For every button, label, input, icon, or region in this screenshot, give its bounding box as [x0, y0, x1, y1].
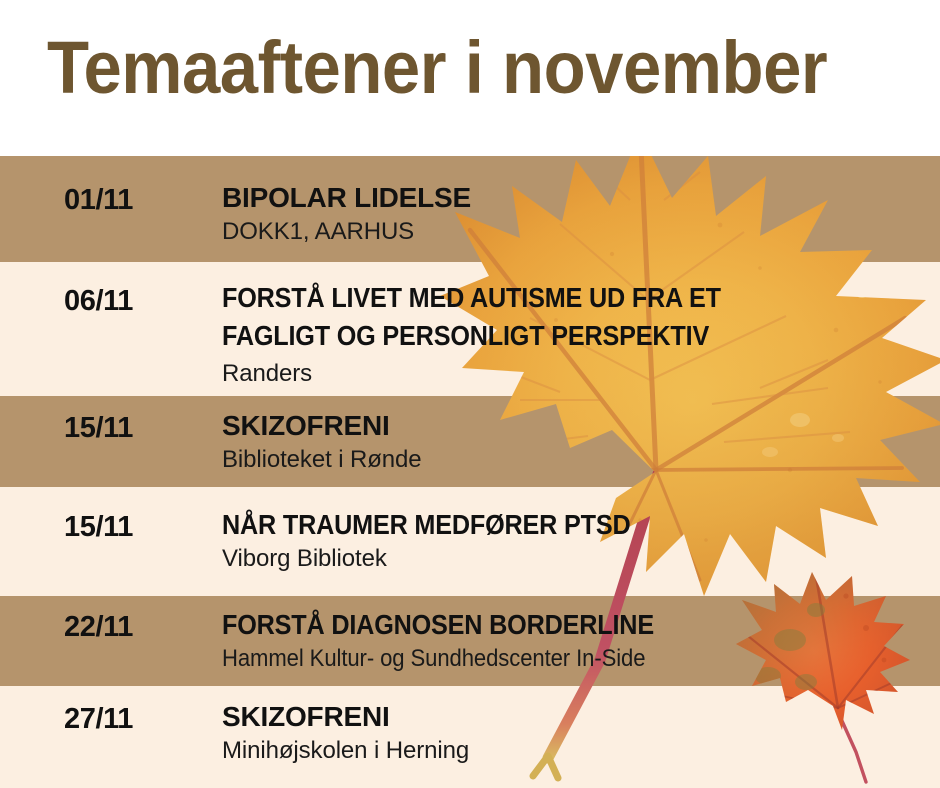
- table-row: 22/11 FORSTÅ DIAGNOSEN BORDERLINE Hammel…: [0, 596, 940, 686]
- title-area: Temaaftener i november: [0, 0, 940, 156]
- event-venue: Hammel Kultur- og Sundhedscenter In-Side: [222, 644, 645, 673]
- event-date: 27/11: [64, 702, 133, 736]
- event-title: SKIZOFRENI: [222, 700, 390, 734]
- event-date: 01/11: [64, 183, 133, 217]
- event-venue: Biblioteket i Rønde: [222, 445, 422, 474]
- event-date: 15/11: [64, 411, 133, 445]
- event-venue: Randers: [222, 359, 312, 388]
- table-row: 01/11 BIPOLAR LIDELSE DOKK1, AARHUS: [0, 156, 940, 262]
- table-row: 15/11 NÅR TRAUMER MEDFØRER PTSD Viborg B…: [0, 487, 940, 596]
- table-row: 27/11 SKIZOFRENI Minihøjskolen i Herning: [0, 686, 940, 788]
- event-title: SKIZOFRENI: [222, 409, 390, 443]
- table-row: 15/11 SKIZOFRENI Biblioteket i Rønde: [0, 396, 940, 487]
- event-venue: Viborg Bibliotek: [222, 544, 387, 573]
- event-title: BIPOLAR LIDELSE: [222, 181, 471, 215]
- event-date: 15/11: [64, 510, 133, 544]
- page-title: Temaaftener i november: [47, 27, 827, 109]
- table-row: 06/11 FORSTÅ LIVET MED AUTISME UD FRA ET…: [0, 262, 940, 396]
- event-venue: DOKK1, AARHUS: [222, 217, 414, 246]
- event-venue: Minihøjskolen i Herning: [222, 736, 469, 765]
- poster-canvas: Temaaftener i november 01/11 BIPOLAR LID…: [0, 0, 940, 788]
- event-title: NÅR TRAUMER MEDFØRER PTSD: [222, 508, 631, 542]
- event-title-line2: FAGLIGT OG PERSONLIGT PERSPEKTIV: [222, 319, 709, 353]
- event-title: FORSTÅ DIAGNOSEN BORDERLINE: [222, 608, 654, 642]
- event-date: 06/11: [64, 284, 133, 318]
- event-date: 22/11: [64, 610, 133, 644]
- event-title: FORSTÅ LIVET MED AUTISME UD FRA ET: [222, 281, 721, 315]
